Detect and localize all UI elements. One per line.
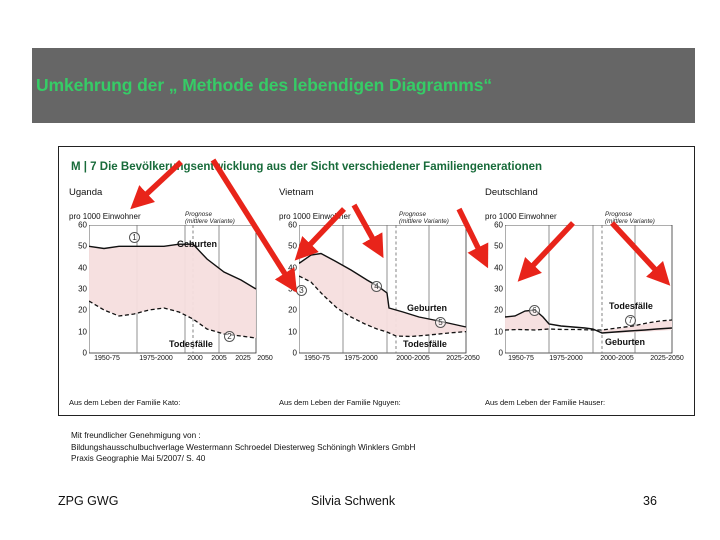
- y-tick: 60: [78, 221, 89, 230]
- chart-panel-deutschland: Deutschland pro 1000 Einwohner Prognose …: [483, 187, 687, 409]
- x-axis-vietnam: 1950-75 1975-2000 2000-2005 2025-2050: [281, 355, 477, 367]
- series-label-geburten: Geburten: [177, 239, 217, 249]
- credit-line-1: Mit freundlicher Genehmigung von :: [71, 430, 415, 442]
- y-tick: 60: [494, 221, 505, 230]
- x-tick: 2050: [257, 355, 273, 362]
- x-axis-deutschland: 1950-75 1975-2000 2000-2005 2025-2050: [487, 355, 683, 367]
- prognose-annotation-vietnam: Prognose (mittlere Variante): [399, 211, 449, 225]
- footer-course: ZPG GWG: [58, 494, 118, 508]
- chart-panel-uganda: Uganda pro 1000 Einwohner Prognose (mitt…: [67, 187, 271, 409]
- credit-line-2: Bildungshausschulbuchverlage Westermann …: [71, 442, 415, 454]
- x-tick: 2000-2005: [396, 355, 429, 362]
- x-tick: 2005: [211, 355, 227, 362]
- prognose-annotation-uganda: Prognose (mittlere Variante): [185, 211, 235, 225]
- y-tick: 20: [78, 306, 89, 315]
- series-label-todesfaelle: Todesfälle: [403, 339, 447, 349]
- page-title: Umkehrung der „ Methode des lebendigen D…: [32, 75, 492, 96]
- y-tick: 50: [78, 242, 89, 251]
- x-tick: 1950-75: [508, 355, 534, 362]
- y-tick: 60: [288, 221, 299, 230]
- marker-4: 4: [371, 281, 382, 292]
- chart-svg-deutschland: [505, 225, 673, 355]
- chart-title-deutschland: Deutschland: [485, 187, 538, 198]
- x-tick: 1975-2000: [139, 355, 172, 362]
- y-tick: 10: [494, 327, 505, 336]
- marker-7: 7: [625, 315, 636, 326]
- figure-title: M | 7 Die Bevölkerungsentwicklung aus de…: [71, 161, 542, 173]
- figure-container: M | 7 Die Bevölkerungsentwicklung aus de…: [58, 146, 695, 416]
- x-axis-uganda: 1950-75 1975-2000 2000 2005 2025 2050: [71, 355, 267, 367]
- plot-area-uganda: 60 50 40 30 20 10 0: [89, 225, 257, 353]
- y-tick: 50: [494, 242, 505, 251]
- marker-3: 3: [296, 285, 307, 296]
- y-tick: 30: [78, 285, 89, 294]
- slide-footer: ZPG GWG Silvia Schwenk 36: [0, 494, 720, 516]
- chart-panel-vietnam: Vietnam pro 1000 Einwohner Prognose (mit…: [277, 187, 481, 409]
- figure-title-text: Die Bevölkerungsentwicklung aus der Sich…: [100, 161, 542, 173]
- plot-area-deutschland: 60 50 40 30 20 10 0 Todes: [505, 225, 673, 353]
- panel-caption-deutschland: Aus dem Leben der Familie Hauser:: [485, 398, 605, 407]
- x-tick: 1975-2000: [344, 355, 377, 362]
- credit-line-3: Praxis Geographie Mai 5/2007/ S. 40: [71, 453, 415, 465]
- prognose-annotation-deutschland: Prognose (mittlere Variante): [605, 211, 655, 225]
- marker-2: 2: [224, 331, 235, 342]
- y-tick: 40: [78, 263, 89, 272]
- series-label-geburten: Geburten: [407, 303, 447, 313]
- footer-author: Silvia Schwenk: [311, 494, 395, 508]
- chart-svg-vietnam: [299, 225, 467, 355]
- y-tick: 40: [494, 263, 505, 272]
- x-tick: 2000-2005: [600, 355, 633, 362]
- series-label-todesfaelle: Todesfälle: [609, 301, 653, 311]
- y-tick: 50: [288, 242, 299, 251]
- x-tick: 1975-2000: [549, 355, 582, 362]
- y-tick: 10: [288, 327, 299, 336]
- panel-caption-vietnam: Aus dem Leben der Familie Nguyen:: [279, 398, 401, 407]
- y-tick: 10: [78, 327, 89, 336]
- x-tick: 2025: [235, 355, 251, 362]
- y-tick: 20: [494, 306, 505, 315]
- chart-title-vietnam: Vietnam: [279, 187, 314, 198]
- marker-1: 1: [129, 232, 140, 243]
- x-tick: 2000: [187, 355, 203, 362]
- y-tick: 20: [288, 306, 299, 315]
- x-tick: 2025-2050: [446, 355, 479, 362]
- marker-5: 5: [435, 317, 446, 328]
- figure-source-code: M | 7: [71, 161, 97, 173]
- series-label-geburten: Geburten: [605, 337, 645, 347]
- chart-title-uganda: Uganda: [69, 187, 102, 198]
- credit-block: Mit freundlicher Genehmigung von : Bildu…: [71, 430, 415, 465]
- y-tick: 30: [494, 285, 505, 294]
- slide-title-bar: Umkehrung der „ Methode des lebendigen D…: [32, 48, 695, 123]
- plot-area-vietnam: 60 50 40 30 20 10 0 Geburten Todesfäl: [299, 225, 467, 353]
- marker-6: 6: [529, 305, 540, 316]
- y-tick: 40: [288, 263, 299, 272]
- footer-slide-number: 36: [643, 494, 657, 508]
- panel-caption-uganda: Aus dem Leben der Familie Kato:: [69, 398, 180, 407]
- x-tick: 1950-75: [94, 355, 120, 362]
- x-tick: 1950-75: [304, 355, 330, 362]
- series-label-todesfaelle: Todesfälle: [169, 339, 213, 349]
- x-tick: 2025-2050: [650, 355, 683, 362]
